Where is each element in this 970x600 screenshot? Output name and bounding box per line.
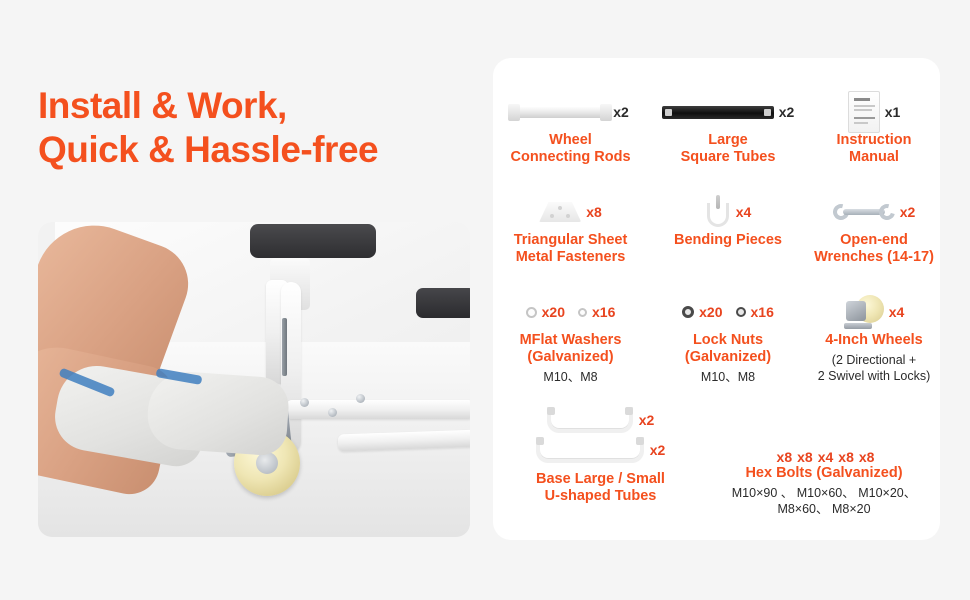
part-name: Hex Bolts (Galvanized) bbox=[708, 465, 940, 482]
washer-icon bbox=[526, 307, 537, 318]
u-tube-icon-small bbox=[547, 407, 633, 433]
part-name: 4-Inch Wheels bbox=[808, 332, 940, 349]
part-name: Triangular Sheet Metal Fasteners bbox=[493, 232, 648, 266]
manual-icon bbox=[848, 91, 880, 133]
bending-piece-icon bbox=[705, 195, 731, 229]
part-name: MFlat Washers (Galvanized) bbox=[493, 332, 648, 366]
washer-icon-small bbox=[578, 308, 587, 317]
bolt-head bbox=[328, 408, 337, 417]
part-spec: (2 Directional + 2 Swivel with Locks) bbox=[808, 352, 940, 384]
wrench-icon bbox=[833, 204, 895, 220]
part-name: Base Large / Small U-shaped Tubes bbox=[493, 471, 708, 505]
part-spec: M10、M8 bbox=[493, 369, 648, 385]
bolt-head bbox=[300, 398, 309, 407]
rod-icon bbox=[512, 107, 608, 118]
part-spec: M10、M8 bbox=[648, 369, 808, 385]
part-item-hex-bolts: x8 x8 x4 x8 bbox=[708, 407, 940, 517]
work-glove-right bbox=[145, 369, 290, 457]
hex-bolt-icon-group: x8 x8 x4 x8 bbox=[708, 407, 940, 465]
equipment-seat-pad bbox=[250, 224, 376, 258]
part-item-bending-pieces: x4 Bending Pieces bbox=[648, 192, 808, 266]
caster-wheel-icon bbox=[844, 295, 884, 329]
page-title: Install & Work, Quick & Hassle-free bbox=[38, 84, 378, 172]
screwdriver bbox=[282, 318, 287, 376]
part-item-lock-nuts: x20 x16 Lock Nuts (Galvanized) M10、M8 bbox=[648, 292, 808, 385]
frame-tube-horizontal bbox=[286, 400, 470, 419]
triangular-plate-icon bbox=[539, 202, 581, 222]
parts-list-panel: x2 Wheel Connecting Rods x2 Large Square… bbox=[493, 58, 940, 540]
part-item-instruction-manual: x1 Instruction Manual bbox=[808, 92, 940, 166]
caster-hub bbox=[256, 452, 278, 474]
part-name: Instruction Manual bbox=[808, 132, 940, 166]
part-name: Large Square Tubes bbox=[648, 132, 808, 166]
part-name: Lock Nuts (Galvanized) bbox=[648, 332, 808, 366]
part-item-open-end-wrenches: x2 Open-end Wrenches (14-17) bbox=[808, 192, 940, 266]
part-name: Wheel Connecting Rods bbox=[493, 132, 648, 166]
part-name: Open-end Wrenches (14-17) bbox=[808, 232, 940, 266]
part-item-wheel-connecting-rods: x2 Wheel Connecting Rods bbox=[493, 92, 648, 166]
lock-nut-icon-small bbox=[736, 307, 746, 317]
bolt-head bbox=[356, 394, 365, 403]
part-item-four-inch-wheels: x4 4-Inch Wheels (2 Directional + 2 Swiv… bbox=[808, 292, 940, 385]
part-item-triangular-sheet-metal-fasteners: x8 Triangular Sheet Metal Fasteners bbox=[493, 192, 648, 266]
u-tube-icon-large bbox=[536, 437, 644, 463]
part-item-flat-washers: x20 x16 MFlat Washers (Galvanized) M10、M… bbox=[493, 292, 648, 385]
part-name: Bending Pieces bbox=[648, 232, 808, 249]
lock-nut-icon bbox=[682, 306, 694, 318]
part-item-large-square-tubes: x2 Large Square Tubes bbox=[648, 92, 808, 166]
part-spec: M10×90 、 M10×60、 M10×20、 M8×60、 M8×20 bbox=[708, 485, 940, 517]
equipment-seat-pad-secondary bbox=[416, 288, 470, 318]
assembly-photo bbox=[38, 222, 470, 537]
part-item-base-u-shaped-tubes: x2 x2 Base Large / Small U-shaped Tubes bbox=[493, 407, 708, 517]
square-tube-icon bbox=[662, 106, 774, 119]
